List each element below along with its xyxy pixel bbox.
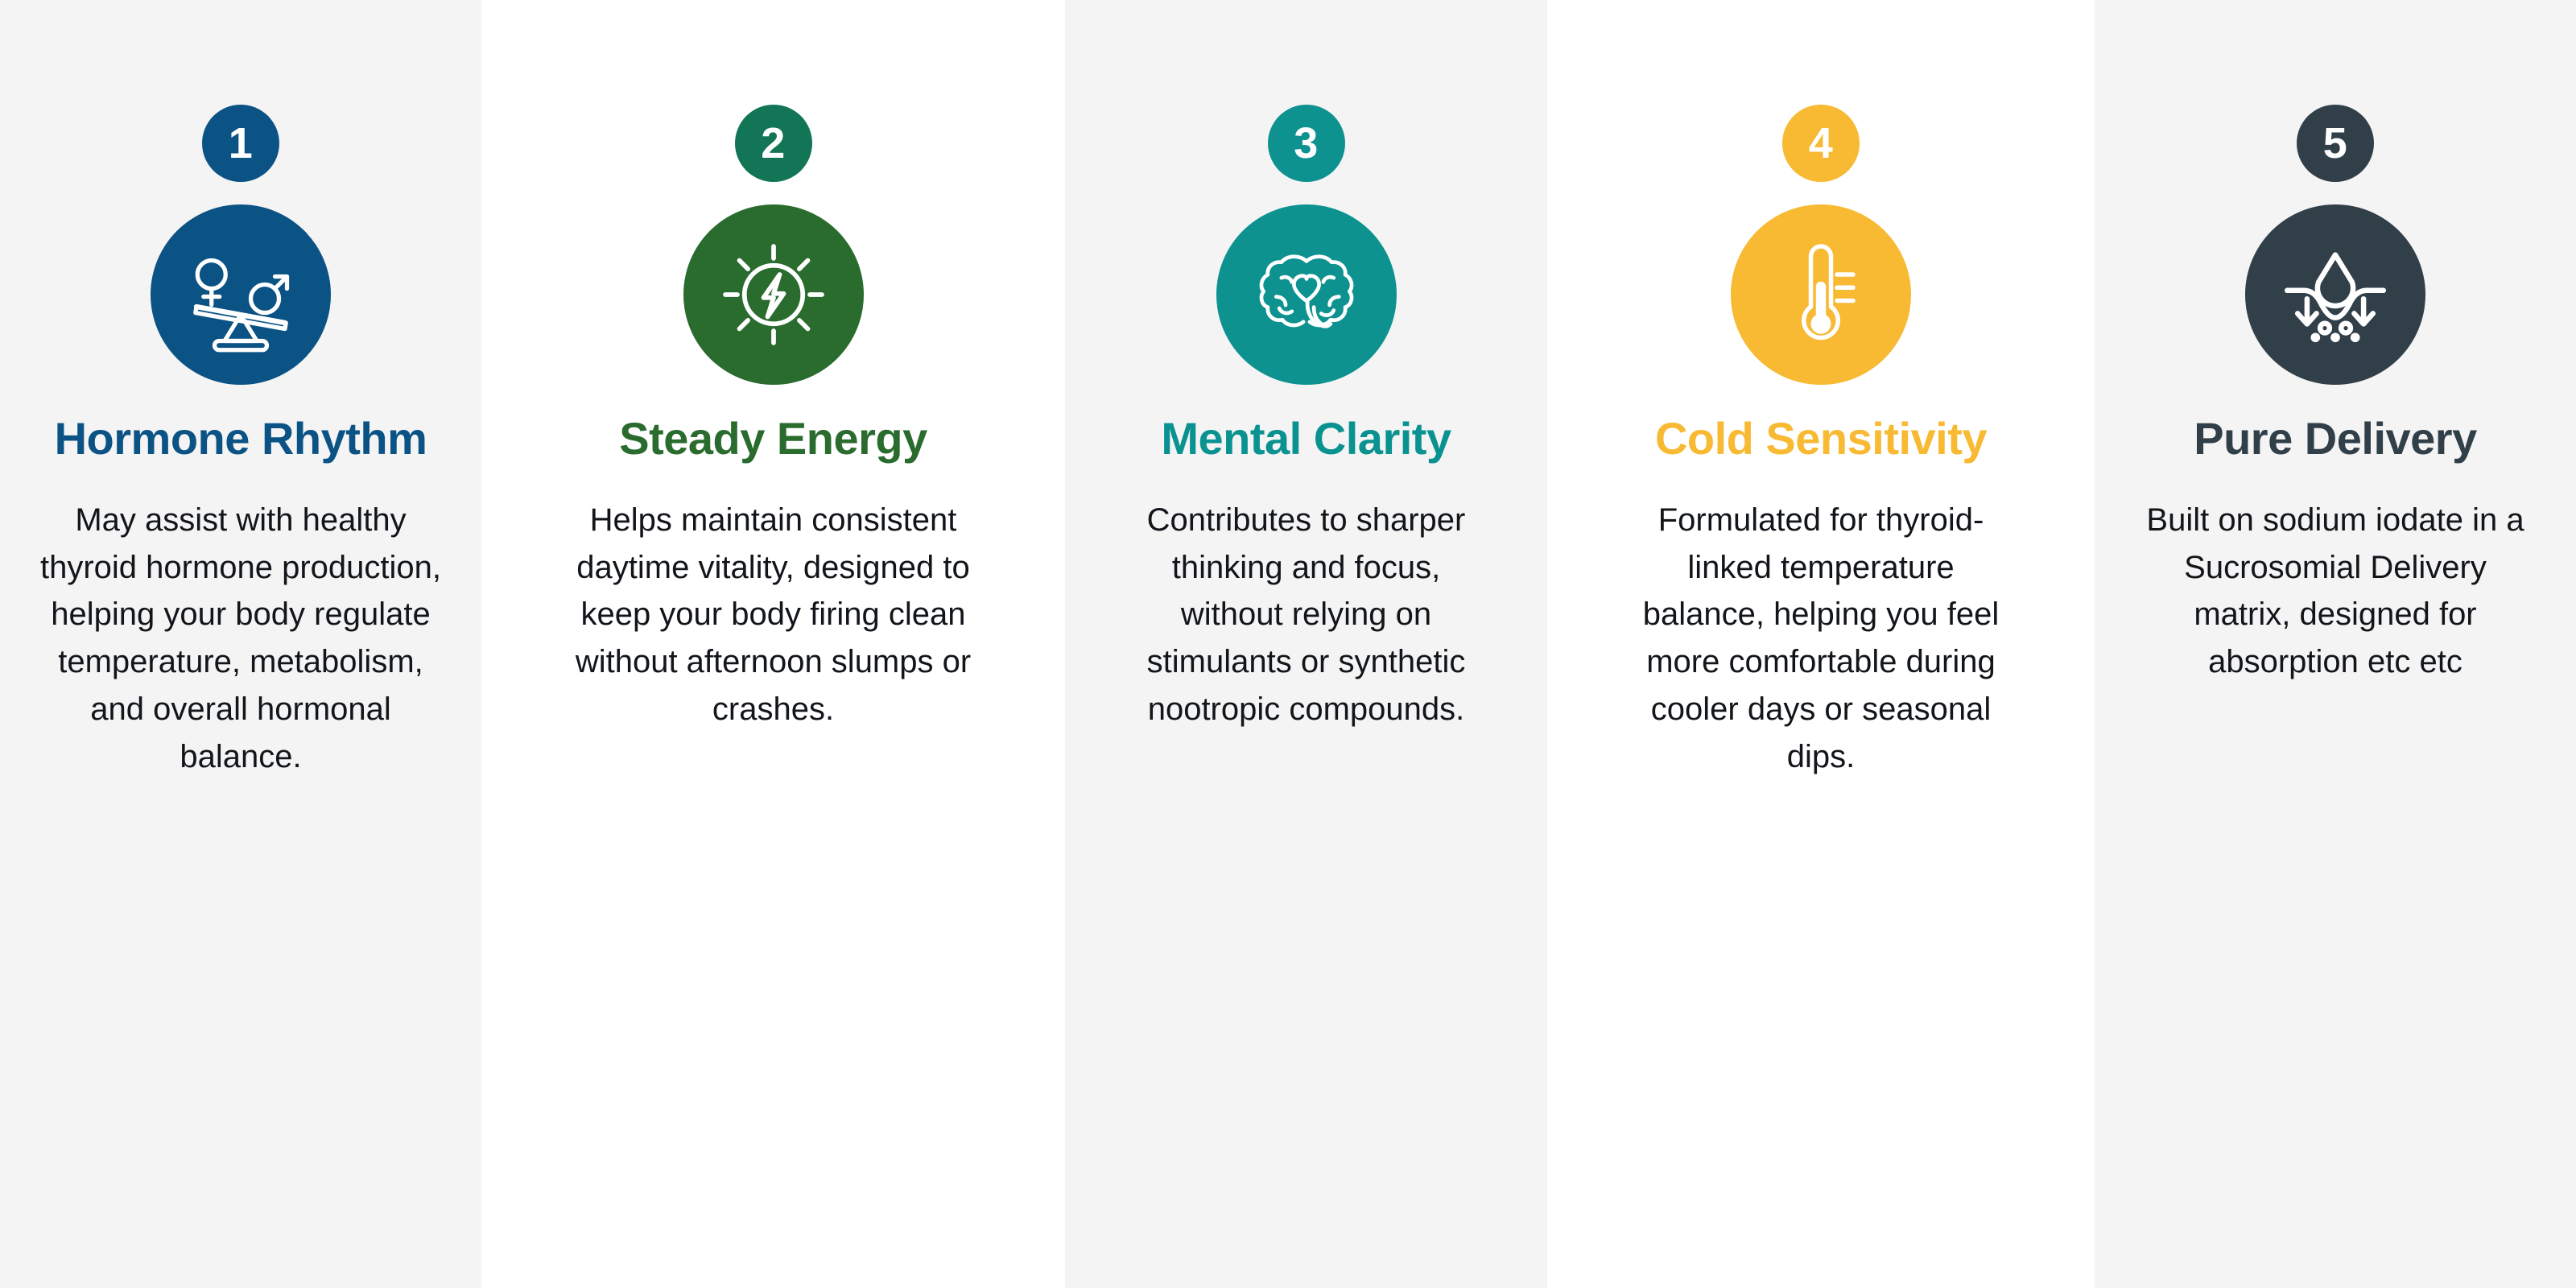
card-title-5: Pure Delivery — [2194, 414, 2476, 464]
card-body-1: May assist with healthy thyroid hormone … — [27, 497, 454, 781]
step-number-5: 5 — [2323, 122, 2348, 165]
step-number-badge-1: 1 — [202, 105, 279, 182]
icon-disc-1 — [151, 204, 331, 385]
benefit-card-5: 5 — [2095, 0, 2576, 1288]
card-body-3: Contributes to sharper thinking and focu… — [1117, 497, 1496, 733]
card-title-2: Steady Energy — [619, 414, 927, 464]
step-number-badge-4: 4 — [1782, 105, 1860, 182]
step-number-1: 1 — [229, 122, 254, 165]
hormone-balance-seesaw-icon — [180, 234, 301, 355]
brain-heart-icon — [1244, 232, 1369, 357]
benefit-card-1: 1 — [0, 0, 481, 1288]
benefit-card-2: 2 Steady Energy — [481, 0, 1065, 1288]
step-number-badge-3: 3 — [1268, 105, 1345, 182]
sun-lightning-bolt-icon — [713, 234, 834, 355]
icon-disc-4 — [1731, 204, 1911, 385]
step-number-4: 4 — [1809, 122, 1834, 165]
step-number-2: 2 — [761, 122, 786, 165]
card-title-1: Hormone Rhythm — [55, 414, 427, 464]
card-body-4: Formulated for thyroid-linked temperatur… — [1632, 497, 2010, 781]
step-number-badge-5: 5 — [2297, 105, 2374, 182]
droplet-absorption-icon — [2273, 232, 2398, 357]
card-title-4: Cold Sensitivity — [1655, 414, 1987, 464]
benefits-infographic: 1 — [0, 0, 2576, 1288]
card-body-2: Helps maintain consistent daytime vitali… — [564, 497, 983, 733]
icon-disc-3 — [1216, 204, 1397, 385]
step-number-badge-2: 2 — [735, 105, 812, 182]
thermometer-icon — [1761, 234, 1881, 355]
card-body-5: Built on sodium iodate in a Sucrosomial … — [2134, 497, 2537, 686]
benefit-card-3: 3 — [1065, 0, 1547, 1288]
card-title-3: Mental Clarity — [1161, 414, 1451, 464]
benefit-card-4: 4 Cold Sensitivity Formulated for thyroi… — [1547, 0, 2095, 1288]
step-number-3: 3 — [1294, 122, 1319, 165]
icon-disc-5 — [2245, 204, 2425, 385]
icon-disc-2 — [683, 204, 864, 385]
